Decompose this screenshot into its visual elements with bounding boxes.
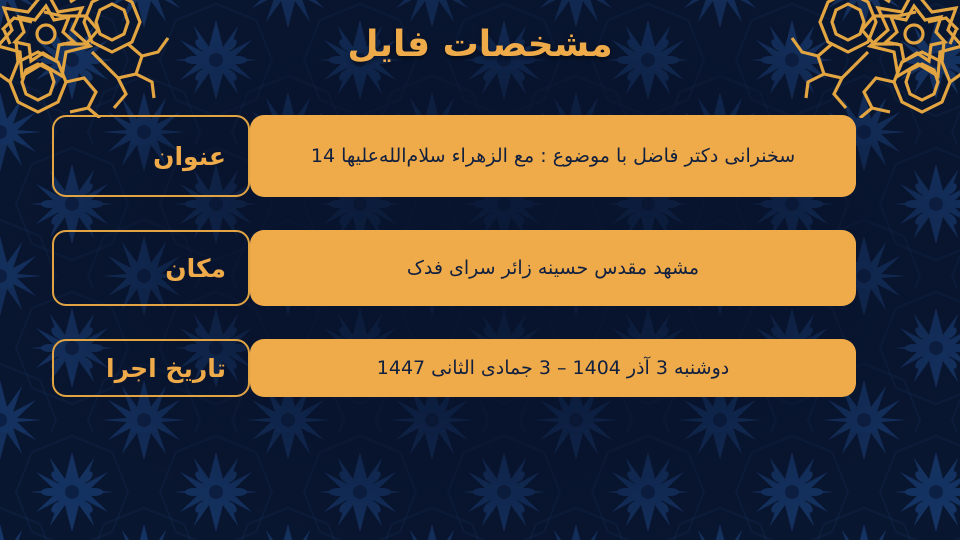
page-title: مشخصات فایل bbox=[0, 14, 960, 76]
row-label-title: عنوان bbox=[52, 115, 250, 197]
row-value-title: سخنرانی دکتر فاضل با موضوع : مع الزهراء … bbox=[250, 115, 856, 197]
row-value-date: دوشنبه 3 آذر 1404 – 3 جمادی الثانی 1447 bbox=[250, 339, 856, 397]
table-row: تاریخ اجرا دوشنبه 3 آذر 1404 – 3 جمادی ا… bbox=[52, 339, 876, 397]
table-row: عنوان سخنرانی دکتر فاضل با موضوع : مع ال… bbox=[52, 115, 876, 197]
table-row: مکان مشهد مقدس حسینه زائر سرای فدک bbox=[52, 230, 876, 306]
file-details-table: عنوان سخنرانی دکتر فاضل با موضوع : مع ال… bbox=[52, 115, 876, 397]
row-label-date: تاریخ اجرا bbox=[52, 339, 250, 397]
file-specification-slide: مشخصات فایل عنوان سخنرانی دکتر فاضل با م… bbox=[0, 0, 960, 540]
row-label-place: مکان bbox=[52, 230, 250, 306]
row-value-place: مشهد مقدس حسینه زائر سرای فدک bbox=[250, 230, 856, 306]
